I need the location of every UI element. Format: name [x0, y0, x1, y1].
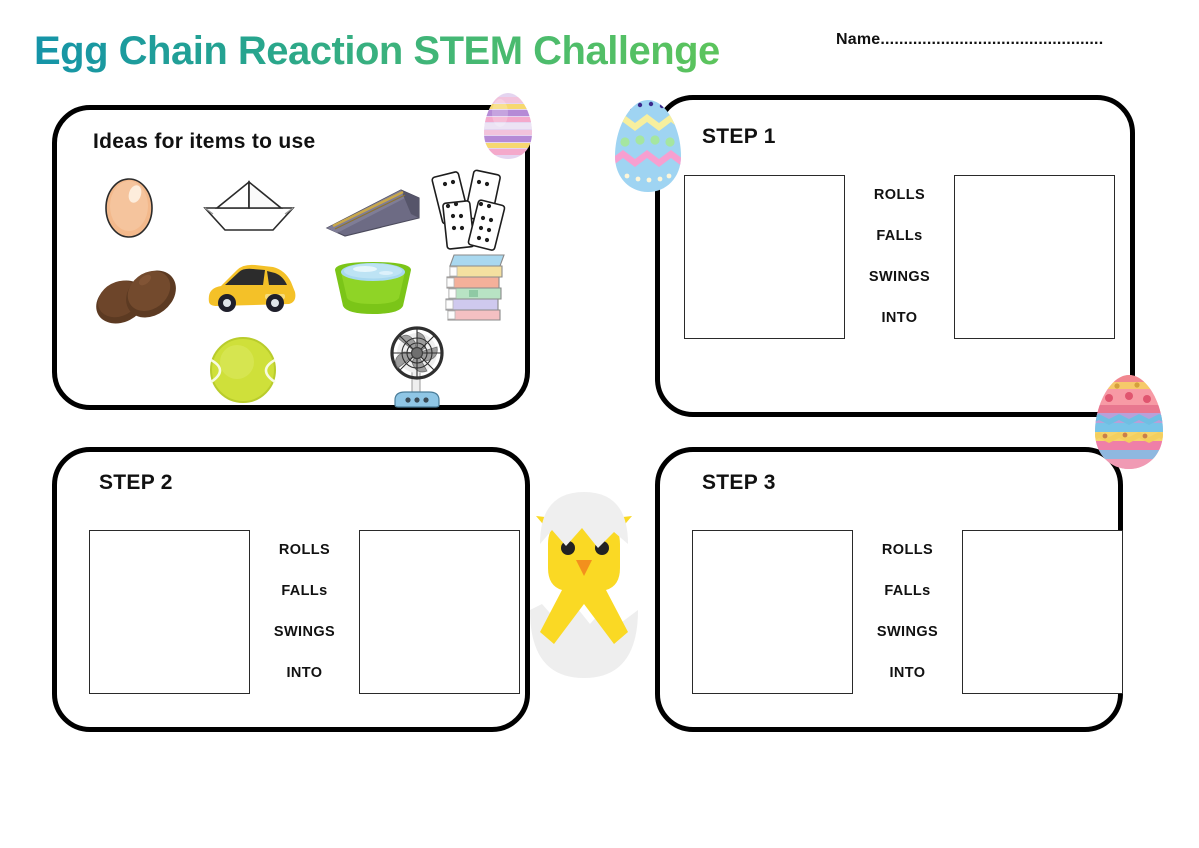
verb-into[interactable]: INTO: [882, 298, 918, 339]
step-3-panel: STEP 3 ROLLS FALLs SWINGS INTO: [655, 447, 1123, 732]
verb-falls[interactable]: FALLs: [884, 571, 930, 612]
step-3-row: ROLLS FALLs SWINGS INTO: [692, 530, 1123, 694]
step-3-cause-box[interactable]: [692, 530, 853, 694]
bowl-of-water-icon: [329, 254, 417, 320]
step-1-verbs: ROLLS FALLs SWINGS INTO: [845, 175, 954, 339]
verb-into[interactable]: INTO: [287, 653, 323, 694]
tennis-ball-icon: [207, 334, 279, 406]
paper-boat-icon: [199, 180, 299, 236]
stack-of-books-icon: [436, 250, 512, 324]
step-1-title: STEP 1: [702, 125, 776, 149]
verb-falls[interactable]: FALLs: [281, 571, 327, 612]
step-1-panel: STEP 1 ROLLS FALLs SWINGS INTO: [655, 95, 1135, 417]
step-2-cause-box[interactable]: [89, 530, 250, 694]
verb-swings[interactable]: SWINGS: [877, 612, 938, 653]
verb-into[interactable]: INTO: [890, 653, 926, 694]
step-2-verbs: ROLLS FALLs SWINGS INTO: [250, 530, 359, 694]
step-2-effect-box[interactable]: [359, 530, 520, 694]
step-1-row: ROLLS FALLs SWINGS INTO: [684, 175, 1115, 339]
ramp-icon: [323, 184, 423, 238]
step-1-cause-box[interactable]: [684, 175, 845, 339]
verb-falls[interactable]: FALLs: [876, 216, 922, 257]
egg-icon: [101, 168, 157, 238]
ideas-panel: Ideas for items to use: [52, 105, 530, 410]
verb-swings[interactable]: SWINGS: [274, 612, 335, 653]
striped-easter-egg: [481, 91, 535, 161]
hatching-chick-icon: [518, 482, 650, 682]
verb-rolls[interactable]: ROLLS: [874, 175, 925, 216]
name-field[interactable]: Name....................................…: [836, 31, 1103, 49]
zigzag-easter-egg: [609, 97, 687, 195]
step-3-verbs: ROLLS FALLs SWINGS INTO: [853, 530, 962, 694]
worksheet-page: Egg Chain Reaction STEM Challenge Name..…: [0, 0, 1199, 848]
step-2-panel: STEP 2 ROLLS FALLs SWINGS INTO: [52, 447, 530, 732]
watercolor-easter-egg: [1089, 372, 1169, 472]
step-1-effect-box[interactable]: [954, 175, 1115, 339]
electric-fan-icon: [381, 326, 453, 410]
step-2-title: STEP 2: [99, 471, 173, 495]
step-3-effect-box[interactable]: [962, 530, 1123, 694]
verb-rolls[interactable]: ROLLS: [882, 530, 933, 571]
chocolate-eggs-icon: [89, 258, 185, 330]
verb-swings[interactable]: SWINGS: [869, 257, 930, 298]
step-2-row: ROLLS FALLs SWINGS INTO: [89, 530, 520, 694]
page-title: Egg Chain Reaction STEM Challenge: [34, 29, 720, 74]
verb-rolls[interactable]: ROLLS: [279, 530, 330, 571]
step-3-title: STEP 3: [702, 471, 776, 495]
ideas-grid: [81, 164, 511, 394]
dominoes-icon: [431, 166, 511, 252]
toy-car-icon: [203, 258, 299, 320]
ideas-panel-title: Ideas for items to use: [93, 130, 316, 154]
